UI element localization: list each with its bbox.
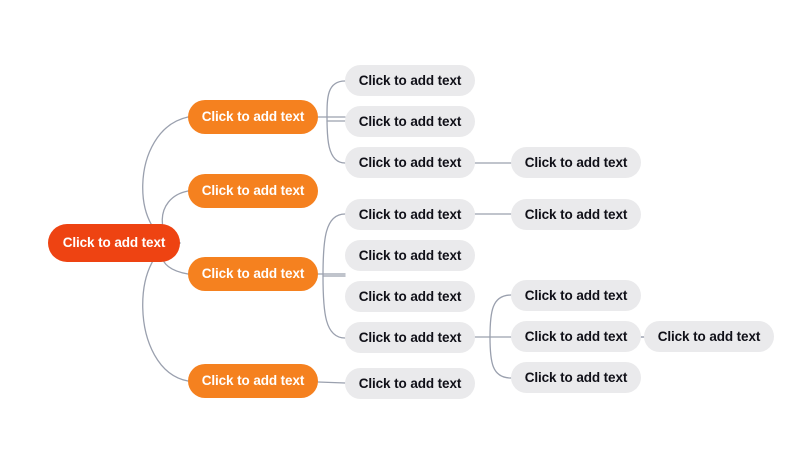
connector-b3-bracket bbox=[323, 214, 345, 338]
mind-map-node-b1c2[interactable]: Click to add text bbox=[345, 106, 475, 137]
mind-map-node-b3c2[interactable]: Click to add text bbox=[345, 240, 475, 271]
root-node[interactable]: Click to add text bbox=[48, 224, 180, 262]
node-label: Click to add text bbox=[525, 330, 628, 344]
node-label: Click to add text bbox=[63, 236, 166, 250]
mind-map-node-b3c3[interactable]: Click to add text bbox=[345, 281, 475, 312]
mind-map-node-b3[interactable]: Click to add text bbox=[188, 257, 318, 291]
mind-map-node-b3c4[interactable]: Click to add text bbox=[345, 322, 475, 353]
node-label: Click to add text bbox=[658, 330, 761, 344]
node-label: Click to add text bbox=[359, 290, 462, 304]
node-label: Click to add text bbox=[359, 156, 462, 170]
mind-map-node-b3c4b[interactable]: Click to add text bbox=[511, 321, 641, 352]
connector-b1-bracket bbox=[327, 81, 345, 163]
mind-map-canvas: Click to add textClick to add textClick … bbox=[0, 0, 800, 450]
connector-b4-b4c1 bbox=[318, 382, 345, 383]
connector-root-b4 bbox=[143, 243, 188, 381]
node-label: Click to add text bbox=[525, 371, 628, 385]
node-label: Click to add text bbox=[525, 156, 628, 170]
mind-map-node-b4c1[interactable]: Click to add text bbox=[345, 368, 475, 399]
node-label: Click to add text bbox=[202, 110, 305, 124]
node-label: Click to add text bbox=[525, 208, 628, 222]
node-label: Click to add text bbox=[359, 377, 462, 391]
node-label: Click to add text bbox=[202, 374, 305, 388]
mind-map-node-b3c1[interactable]: Click to add text bbox=[345, 199, 475, 230]
node-label: Click to add text bbox=[359, 331, 462, 345]
node-label: Click to add text bbox=[359, 208, 462, 222]
mind-map-node-b3c1a[interactable]: Click to add text bbox=[511, 199, 641, 230]
mind-map-node-b4[interactable]: Click to add text bbox=[188, 364, 318, 398]
connector-b3c4-bracket bbox=[490, 295, 511, 378]
mind-map-node-b3c4b1[interactable]: Click to add text bbox=[644, 321, 774, 352]
mind-map-node-b3c4a[interactable]: Click to add text bbox=[511, 280, 641, 311]
mind-map-node-b1c3[interactable]: Click to add text bbox=[345, 147, 475, 178]
mind-map-node-b2[interactable]: Click to add text bbox=[188, 174, 318, 208]
node-label: Click to add text bbox=[202, 267, 305, 281]
mind-map-node-b3c4c[interactable]: Click to add text bbox=[511, 362, 641, 393]
mind-map-node-b1c3a[interactable]: Click to add text bbox=[511, 147, 641, 178]
node-label: Click to add text bbox=[359, 74, 462, 88]
mind-map-node-b1c1[interactable]: Click to add text bbox=[345, 65, 475, 96]
node-label: Click to add text bbox=[525, 289, 628, 303]
node-label: Click to add text bbox=[359, 115, 462, 129]
mind-map-node-b1[interactable]: Click to add text bbox=[188, 100, 318, 134]
node-label: Click to add text bbox=[202, 184, 305, 198]
node-label: Click to add text bbox=[359, 249, 462, 263]
